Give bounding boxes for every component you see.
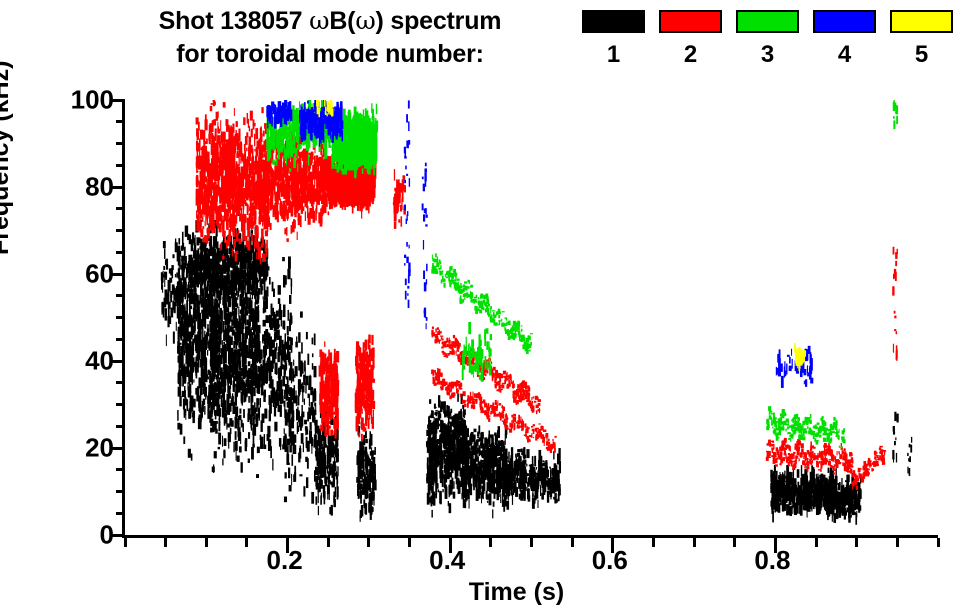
y-tick-major xyxy=(110,534,125,537)
title-line-2: for toroidal mode number: xyxy=(100,38,560,71)
y-tick-minor xyxy=(116,425,125,428)
y-tick-minor xyxy=(116,164,125,167)
y-tick-minor xyxy=(116,468,125,471)
y-tick-minor xyxy=(116,120,125,123)
x-tick-label: 0.6 xyxy=(592,545,628,576)
spectrogram-figure: Shot 138057 ωB(ω) spectrum for toroidal … xyxy=(0,0,963,615)
spectrogram-canvas xyxy=(125,100,938,535)
title-b-open: B( xyxy=(329,7,355,35)
y-tick-minor xyxy=(116,229,125,232)
legend-label-4: 4 xyxy=(838,42,851,68)
y-tick-label: 100 xyxy=(71,85,114,116)
x-tick-label: 0.8 xyxy=(754,545,790,576)
title-line-1: Shot 138057 ωB(ω) spectrum xyxy=(100,4,560,38)
y-tick-major xyxy=(110,273,125,276)
legend-label-5: 5 xyxy=(915,42,928,68)
y-tick-minor xyxy=(116,251,125,254)
y-tick-major xyxy=(110,99,125,102)
legend-label-3: 3 xyxy=(761,42,774,68)
y-tick-minor xyxy=(116,316,125,319)
legend-row: 12345 xyxy=(575,10,960,68)
y-tick-minor xyxy=(116,381,125,384)
y-tick-minor xyxy=(116,490,125,493)
y-tick-major xyxy=(110,186,125,189)
legend-swatch-3 xyxy=(736,10,799,33)
legend-swatch-4 xyxy=(813,10,876,33)
y-tick-minor xyxy=(116,207,125,210)
legend-label-1: 1 xyxy=(607,42,620,68)
y-tick-major xyxy=(110,360,125,363)
legend: 12345 xyxy=(575,10,960,68)
x-axis-labels: 0.20.40.60.8 xyxy=(122,545,935,579)
y-tick-minor xyxy=(116,142,125,145)
x-tick-label: 0.4 xyxy=(429,545,465,576)
y-axis-labels: 020406080100 xyxy=(0,100,114,535)
legend-entry-4: 4 xyxy=(806,10,883,68)
x-axis-title: Time (s) xyxy=(0,578,963,607)
y-tick-minor xyxy=(116,294,125,297)
mode-layer-5 xyxy=(316,100,806,371)
legend-entry-2: 2 xyxy=(652,10,729,68)
spectrogram-data-layer xyxy=(125,100,938,535)
x-axis-title-text: Time (s) xyxy=(399,578,564,606)
legend-label-2: 2 xyxy=(684,42,697,68)
omega-symbol-1: ω xyxy=(309,6,329,35)
legend-entry-5: 5 xyxy=(883,10,960,68)
title-shot-text: Shot 138057 xyxy=(159,7,309,35)
legend-swatch-1 xyxy=(582,10,645,33)
y-axis-title: Frequency (kHz) xyxy=(0,61,15,255)
legend-swatch-2 xyxy=(659,10,722,33)
omega-symbol-2: ω xyxy=(355,6,375,35)
figure-title: Shot 138057 ωB(ω) spectrum for toroidal … xyxy=(100,4,560,71)
y-tick-minor xyxy=(116,403,125,406)
x-tick-minor xyxy=(937,538,940,547)
y-tick-major xyxy=(110,447,125,450)
legend-swatch-5 xyxy=(890,10,953,33)
y-tick-minor xyxy=(116,512,125,515)
title-spectrum-text: ) spectrum xyxy=(376,7,502,35)
legend-entry-3: 3 xyxy=(729,10,806,68)
plot-area xyxy=(122,100,938,538)
x-tick-label: 0.2 xyxy=(267,545,303,576)
y-tick-minor xyxy=(116,338,125,341)
legend-entry-1: 1 xyxy=(575,10,652,68)
